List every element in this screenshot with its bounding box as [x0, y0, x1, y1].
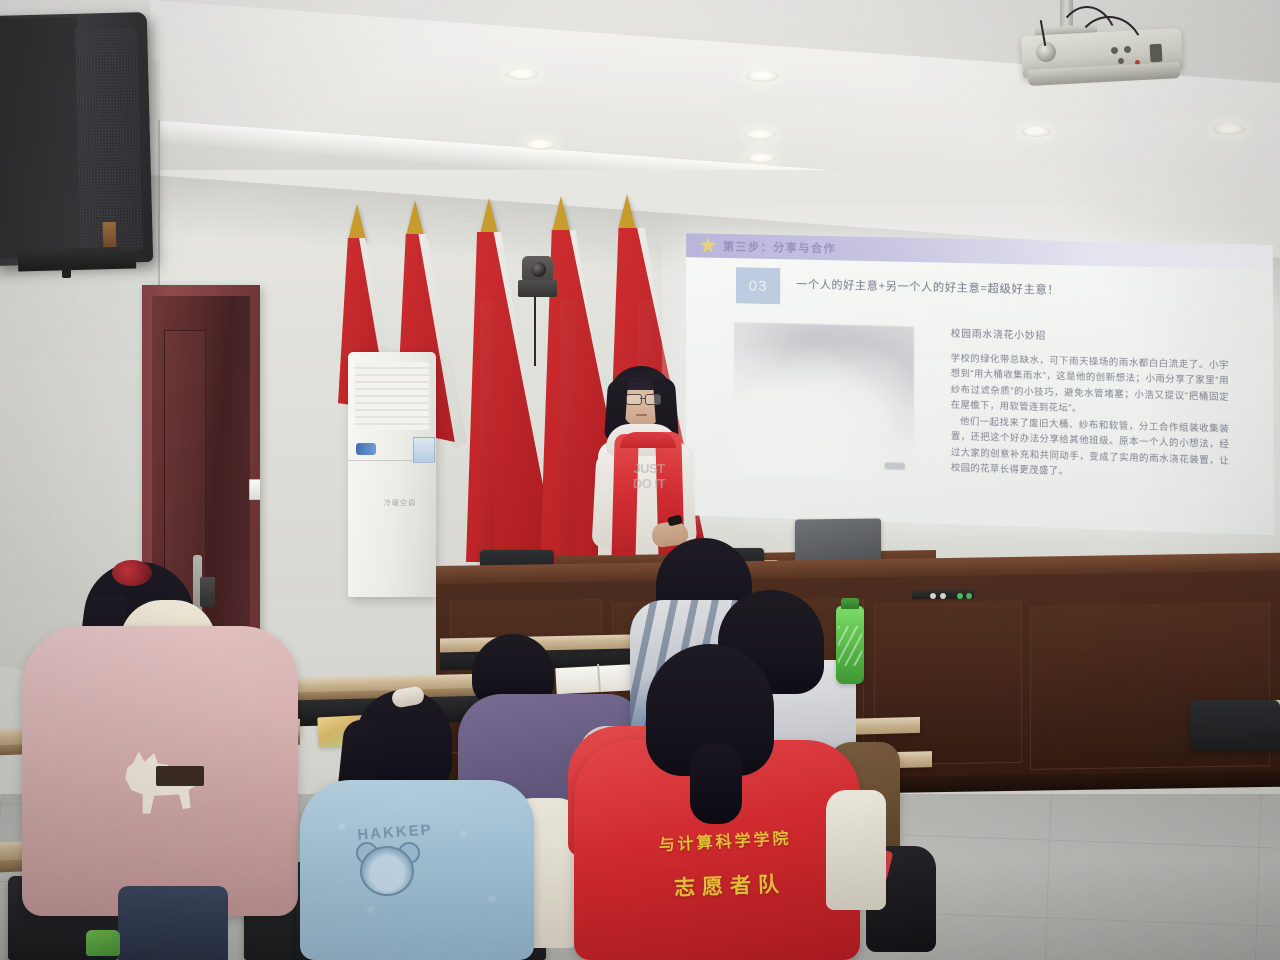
recessed-downlight [744, 129, 776, 140]
speaker-badge [103, 222, 117, 248]
speaker-mount-bolt [62, 264, 71, 278]
slide-headline: 一个人的好主意+另一个人的好主意=超级好主意！ [796, 276, 1059, 298]
ptz-camera-cable [534, 296, 536, 366]
presenter-vest-shoulder [620, 432, 676, 448]
star-icon [699, 236, 717, 254]
classroom-photo: 冷暖空调 第三步：分享与合作 03 一个人的好主意+另一个人的好主意=超级好主意… [0, 0, 1280, 960]
glasses-lens-icon [626, 394, 642, 405]
bottle-cap [841, 598, 859, 609]
slide-photo-watermark [885, 462, 905, 470]
volunteer-inner-jacket [826, 790, 886, 910]
presenter-hoodie-print: JUSTDO IT [630, 462, 668, 502]
slide-body-title: 校园雨水浇花小妙招 [951, 325, 1229, 346]
recessed-downlight [505, 68, 539, 80]
power-strip-led [957, 593, 963, 599]
speaker-grille [75, 27, 143, 251]
slide-photo [734, 322, 914, 480]
power-socket [966, 593, 972, 599]
green-object [86, 930, 120, 956]
ptz-camera-mount [518, 280, 557, 297]
recessed-downlight [746, 153, 776, 163]
speaker-side-panel [0, 17, 83, 259]
air-conditioner-logo [356, 443, 376, 455]
sherpa-texture [300, 780, 534, 960]
recessed-downlight [524, 139, 556, 150]
teddy-bear-icon [360, 846, 414, 896]
volunteer-ponytail [690, 744, 742, 824]
bottle-label [838, 626, 862, 666]
projected-slide: 第三步：分享与合作 03 一个人的好主意+另一个人的好主意=超级好主意！ 校园雨… [686, 233, 1274, 535]
projector-port [1150, 44, 1163, 63]
glasses-lens-icon [645, 394, 661, 405]
slide-paragraph: 学校的绿化带总缺水，可下雨天操场的雨水都白白流走了。小宇想到“用大桶收集雨水”，… [951, 351, 1229, 422]
flag-finial-icon [406, 200, 424, 236]
slide-body: 校园雨水浇花小妙招 学校的绿化带总缺水，可下雨天操场的雨水都白白流走了。小宇想到… [951, 325, 1230, 485]
vest-text-bottom: 志愿者队 [646, 867, 815, 903]
wall-light-switch[interactable] [249, 479, 261, 500]
door-lock-plate [200, 577, 215, 607]
air-conditioner-vent [355, 362, 429, 430]
slide-paragraph: 他们一起找来了废旧大桶、纱布和软管，分工合作组装收集装置，还把这个好办法分享给其… [951, 413, 1230, 485]
flag-finial-icon [348, 204, 366, 240]
recessed-downlight [1213, 123, 1245, 135]
flag-finial-icon [552, 196, 570, 232]
presenter-mouth [636, 414, 647, 416]
power-socket [940, 593, 946, 599]
flag-finial-icon [480, 198, 498, 234]
flag-fold [480, 300, 494, 550]
slide-header-text: 第三步：分享与合作 [723, 238, 836, 256]
flag-fold [560, 300, 576, 558]
air-conditioner-energy-label [413, 437, 435, 463]
glasses-bridge-icon [640, 398, 645, 399]
slide-step-badge: 03 [736, 267, 780, 304]
recessed-downlight [1021, 126, 1051, 137]
recessed-downlight [745, 70, 779, 82]
flag-finial-icon [618, 194, 636, 230]
student-chair[interactable] [1190, 700, 1280, 750]
speaker-bracket [18, 246, 137, 271]
deer-graphic-band [156, 766, 204, 786]
air-conditioner-caption: 冷暖空调 [384, 498, 416, 508]
hair-scrunchie [112, 560, 152, 586]
student-jeans [118, 886, 228, 960]
slide-body-text: 学校的绿化带总缺水，可下雨天操场的雨水都白白流走了。小宇想到“用大桶收集雨水”，… [951, 351, 1230, 485]
camera-lens-icon [531, 262, 546, 277]
power-socket [930, 593, 936, 599]
